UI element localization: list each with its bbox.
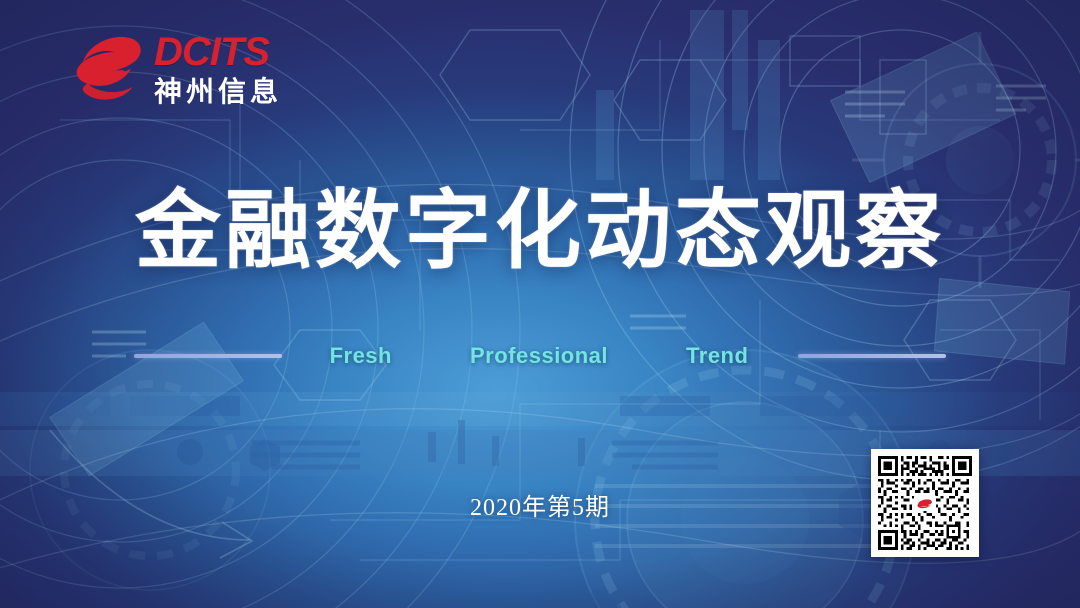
- tagline-word-professional: Professional: [470, 343, 608, 369]
- tagline-word-fresh: Fresh: [330, 343, 392, 369]
- tagline-rule-right: [798, 354, 946, 358]
- tagline-word-trend: Trend: [686, 343, 748, 369]
- qr-code-canvas: [878, 456, 972, 550]
- tagline-rule-left: [134, 354, 282, 358]
- brand-logo: DCITS 神州信息: [64, 28, 282, 106]
- dcits-mini-logo-icon: [916, 498, 934, 509]
- poster-root: DCITS 神州信息 金融数字化动态观察 Fresh Professional …: [0, 0, 1080, 608]
- tagline-row: Fresh Professional Trend: [0, 340, 1080, 372]
- qr-center-logo: [914, 495, 936, 511]
- brand-name-cn: 神州信息: [154, 78, 282, 106]
- brand-name-en: DCITS: [154, 32, 282, 72]
- dcits-swirl-logo-icon: [64, 29, 148, 105]
- qr-code[interactable]: [871, 449, 979, 557]
- page-title: 金融数字化动态观察: [0, 186, 1080, 277]
